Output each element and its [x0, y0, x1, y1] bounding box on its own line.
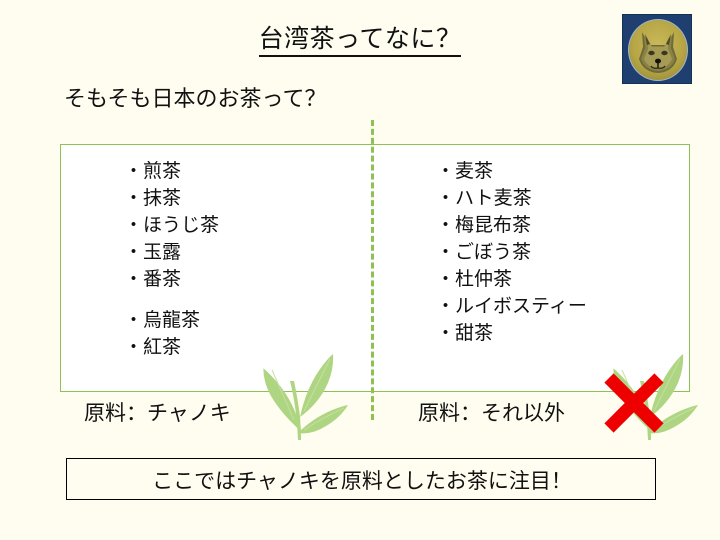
page-title-text: 台湾茶ってなに？ [259, 25, 462, 57]
tea-list-item: ・ごぼう茶 [436, 239, 587, 266]
emblem-disc [628, 19, 688, 81]
callout-box: ここではチャノキを原料としたお茶に注目！ [66, 458, 656, 500]
red-cross-mark-icon [602, 372, 666, 434]
page-title: 台湾茶ってなに？ [0, 22, 720, 56]
tea-list-item: ・紅茶 [124, 334, 219, 361]
source-label-left: 原料：チャノキ [84, 400, 231, 428]
tea-list-item: ・煎茶 [124, 158, 219, 185]
tea-list-item: ・梅昆布茶 [436, 212, 587, 239]
tea-list-item: ・ハト麦茶 [436, 185, 587, 212]
tea-list-item: ・烏龍茶 [124, 307, 219, 334]
source-label-right: 原料：それ以外 [418, 400, 565, 428]
tea-list-item: ・玉露 [124, 239, 219, 266]
tea-list-item: ・抹茶 [124, 185, 219, 212]
column-divider [371, 120, 374, 420]
fox-icon [636, 28, 680, 74]
tea-list-item: ・ルイボスティー [436, 293, 587, 320]
tea-list-right: ・麦茶・ハト麦茶・梅昆布茶・ごぼう茶・杜仲茶・ルイボスティー・甜茶 [436, 158, 587, 347]
slide-canvas: 台湾茶ってなに？ そもそも日本のお茶って？ ・煎茶・抹茶・ほうじ茶・玉露・番茶・… [0, 0, 720, 540]
tea-list-item: ・ほうじ茶 [124, 212, 219, 239]
fox-head-emblem-icon [622, 14, 692, 84]
tea-list-item: ・杜仲茶 [436, 266, 587, 293]
tea-list-item: ・番茶 [124, 266, 219, 293]
tea-list-left: ・煎茶・抹茶・ほうじ茶・玉露・番茶・烏龍茶・紅茶 [124, 158, 219, 361]
tea-list-item: ・甜茶 [436, 320, 587, 347]
callout-text: ここではチャノキを原料としたお茶に注目！ [67, 459, 657, 501]
tea-list-item: ・麦茶 [436, 158, 587, 185]
subtitle: そもそも日本のお茶って？ [64, 84, 326, 114]
